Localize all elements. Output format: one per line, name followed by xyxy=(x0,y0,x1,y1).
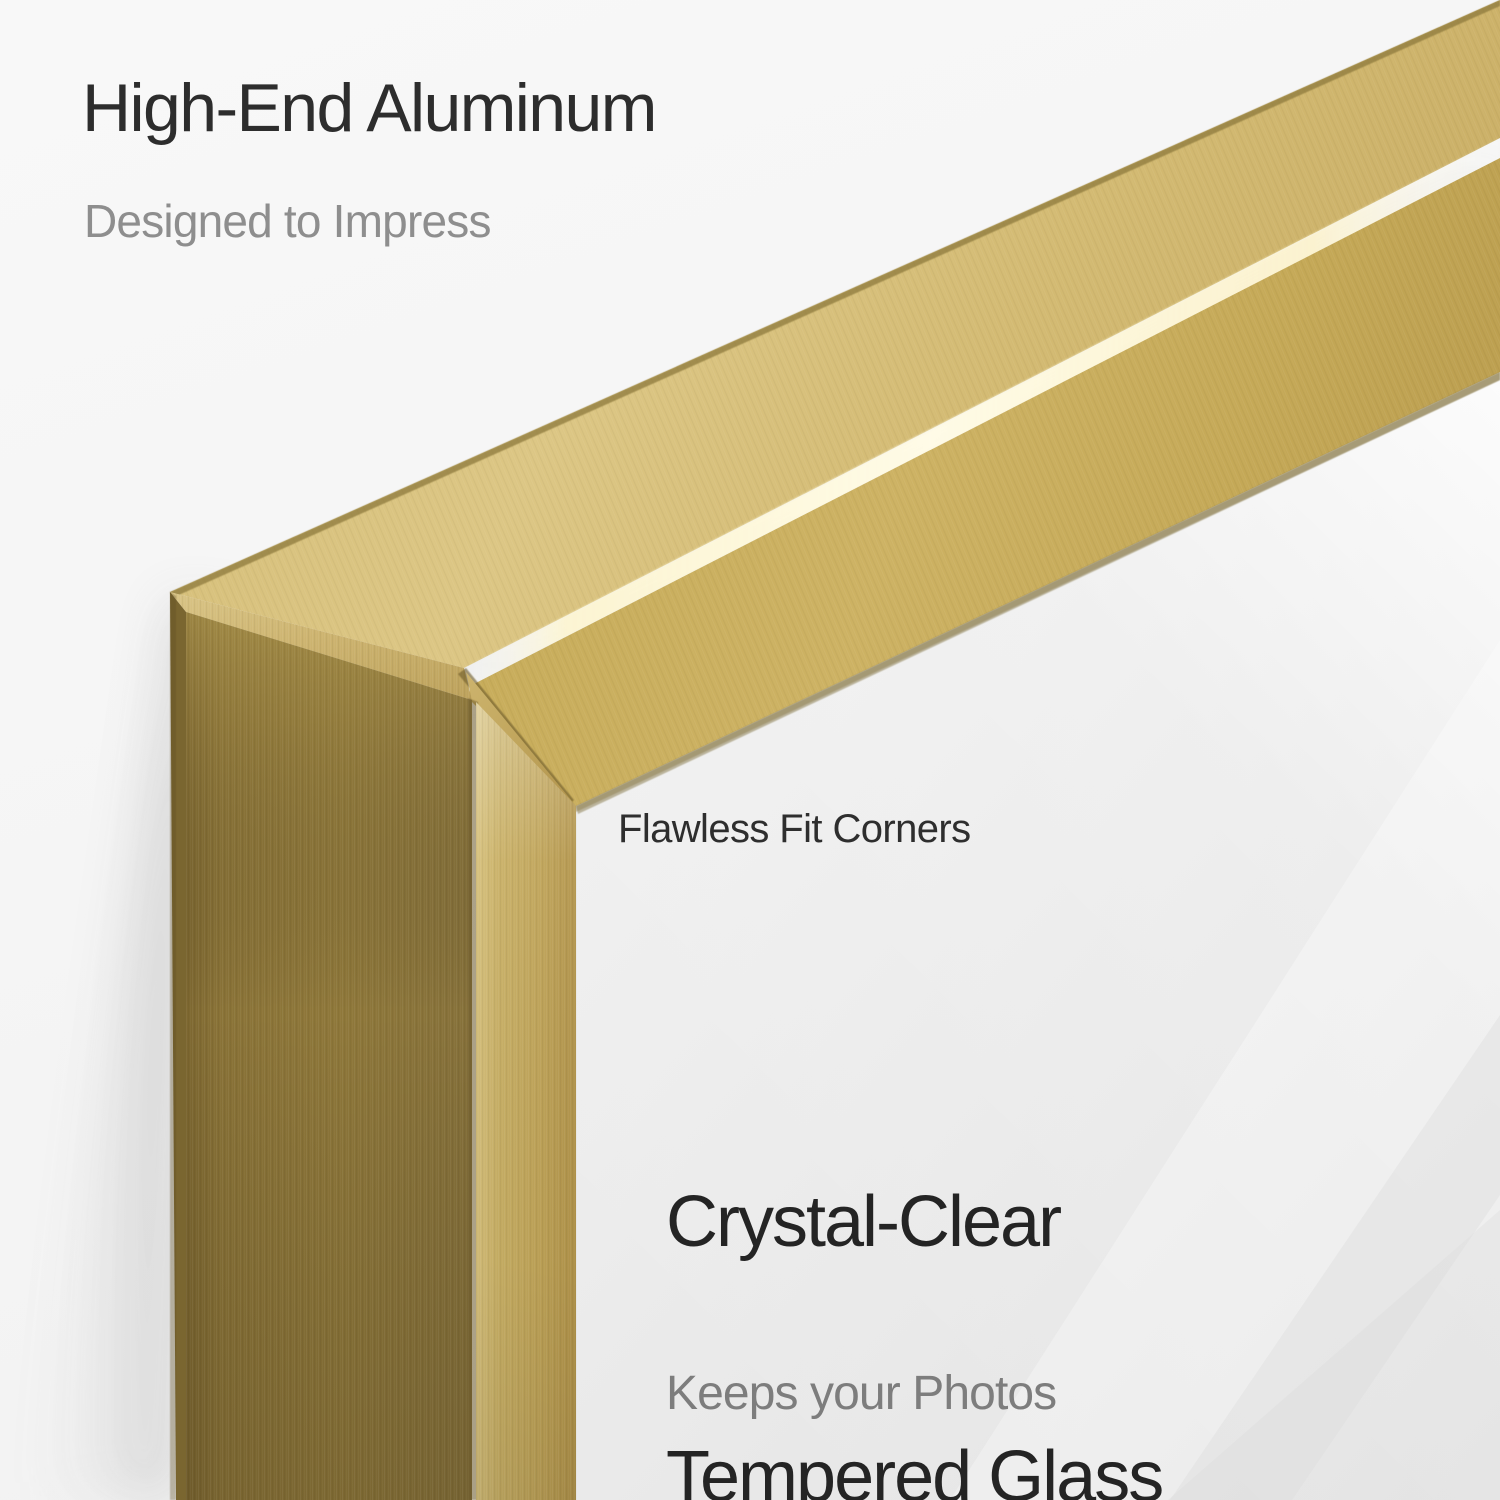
page-subtitle: Designed to Impress xyxy=(84,196,491,247)
callout-glass-subtitle: Keeps your Photos Looking Sharp xyxy=(666,1248,1056,1500)
page-title: High-End Aluminum xyxy=(82,72,656,145)
callout-glass-subtitle-line1: Keeps your Photos xyxy=(666,1365,1056,1424)
callout-flawless-fit-corners: Flawless Fit Corners xyxy=(618,806,971,852)
product-feature-image: High-End Aluminum Designed to Impress Fl… xyxy=(0,0,1500,1500)
